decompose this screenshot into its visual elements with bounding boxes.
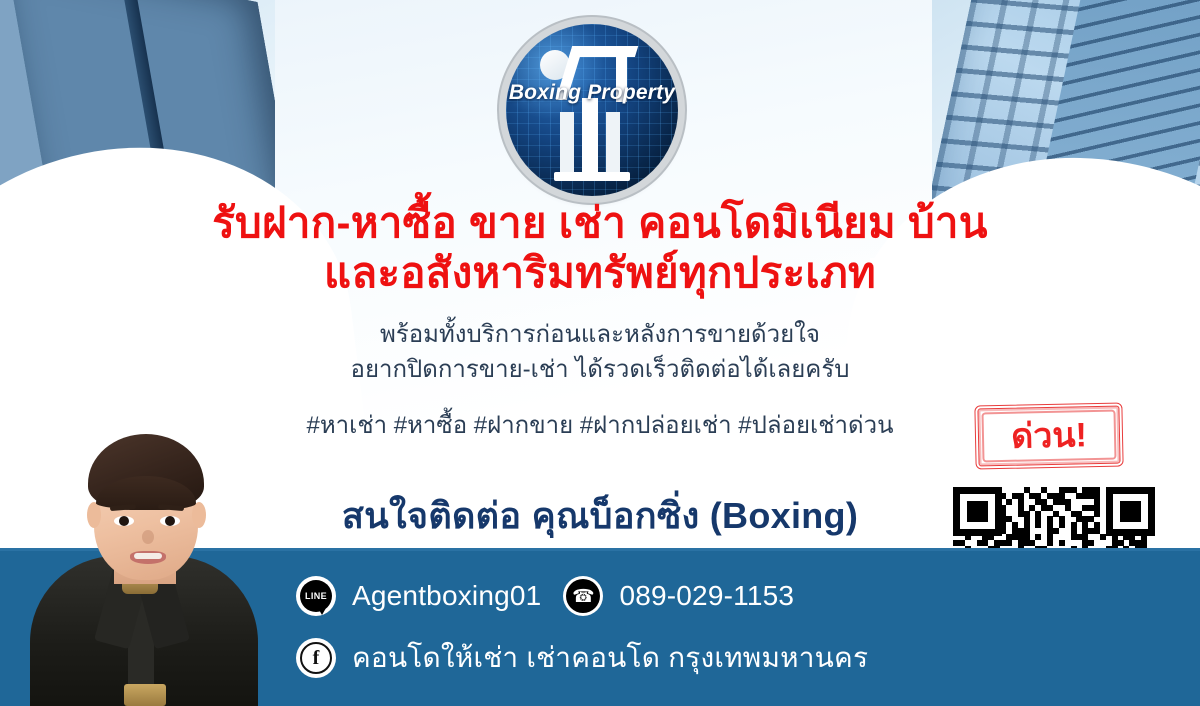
line-icon[interactable]: LINE — [296, 576, 336, 616]
headline-line-2: และอสังหาริมทรัพย์ทุกประเภท — [150, 248, 1050, 298]
footer-row-line-phone: LINE Agentboxing01 ☎ 089-029-1153 — [296, 576, 794, 616]
line-id-value: Agentboxing01 — [352, 580, 541, 612]
phone-icon[interactable]: ☎ — [563, 576, 603, 616]
portrait-teeth — [134, 553, 162, 559]
phone-number-value: 089-029-1153 — [619, 580, 794, 612]
facebook-page-value: คอนโดให้เช่า เช่าคอนโด กรุงเทพมหานคร — [352, 636, 868, 680]
logo-building-bar-3 — [606, 112, 620, 176]
logo-text: Boxing Property — [506, 81, 678, 105]
phone-glyph: ☎ — [566, 579, 600, 613]
footer-row-facebook: f คอนโดให้เช่า เช่าคอนโด กรุงเทพมหานคร — [296, 636, 868, 680]
urgent-stamp: ด่วน! — [974, 402, 1123, 469]
logo-building-bar-1 — [560, 112, 574, 176]
facebook-glyph: f — [300, 642, 332, 674]
subheadline-line-1: พร้อมทั้งบริการก่อนและหลังการขายด้วยใจ — [200, 318, 1000, 353]
poster-canvas: Boxing Property รับฝาก-หาซื้อ ขาย เช่า ค… — [0, 0, 1200, 706]
agent-portrait — [18, 416, 268, 706]
portrait-ear-right — [192, 502, 206, 528]
portrait-eye-right — [160, 516, 180, 526]
qr-finder-pattern — [953, 487, 1002, 536]
contact-heading: สนใจติดต่อ คุณบ็อกซิ่ง (Boxing) — [170, 487, 1030, 544]
headline-line-1: รับฝาก-หาซื้อ ขาย เช่า คอนโดมิเนียม บ้าน — [212, 199, 988, 246]
portrait-badge — [124, 684, 166, 706]
urgent-stamp-text: ด่วน! — [1011, 418, 1087, 454]
logo-base — [554, 172, 630, 181]
subheadline: พร้อมทั้งบริการก่อนและหลังการขายด้วยใจ อ… — [200, 318, 1000, 388]
facebook-icon[interactable]: f — [296, 638, 336, 678]
portrait-eye-left — [114, 516, 134, 526]
brand-logo: Boxing Property — [506, 24, 678, 196]
hashtag-line: #หาเช่า #หาซื้อ #ฝากขาย #ฝากปล่อยเช่า #ป… — [200, 405, 1000, 444]
line-icon-label: LINE — [305, 591, 327, 601]
qr-finder-pattern — [1106, 487, 1155, 536]
subheadline-line-2: อยากปิดการขาย-เช่า ได้รวดเร็วติดต่อได้เล… — [200, 353, 1000, 388]
headline: รับฝาก-หาซื้อ ขาย เช่า คอนโดมิเนียม บ้าน… — [150, 198, 1050, 297]
logo-building-bar-2 — [582, 98, 598, 176]
portrait-ear-left — [87, 502, 101, 528]
portrait-nose — [142, 530, 154, 544]
